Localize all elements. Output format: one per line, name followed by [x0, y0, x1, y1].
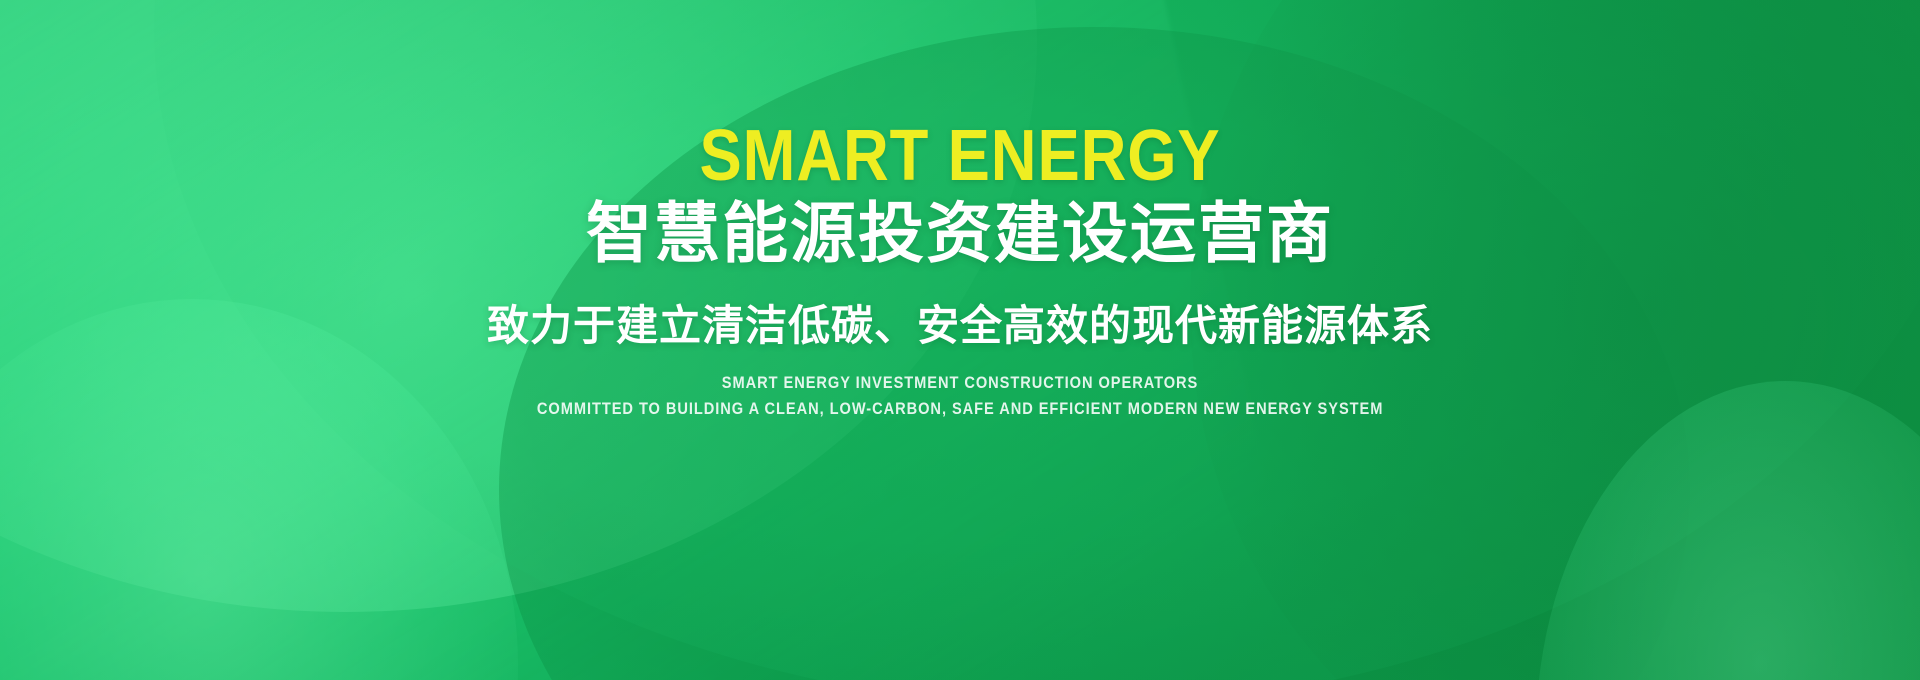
- headline-chinese: 智慧能源投资建设运营商: [586, 197, 1334, 271]
- hero-banner: SMART ENERGY 智慧能源投资建设运营商 致力于建立清洁低碳、安全高效的…: [0, 0, 1920, 680]
- subtext-english-line-2: COMMITTED TO BUILDING A CLEAN, LOW-CARBO…: [537, 397, 1383, 422]
- subheadline-chinese: 致力于建立清洁低碳、安全高效的现代新能源体系: [487, 301, 1433, 351]
- headline-english: SMART ENERGY: [699, 122, 1220, 191]
- banner-content: SMART ENERGY 智慧能源投资建设运营商 致力于建立清洁低碳、安全高效的…: [0, 0, 1920, 680]
- subtext-english-line-1: SMART ENERGY INVESTMENT CONSTRUCTION OPE…: [722, 371, 1198, 396]
